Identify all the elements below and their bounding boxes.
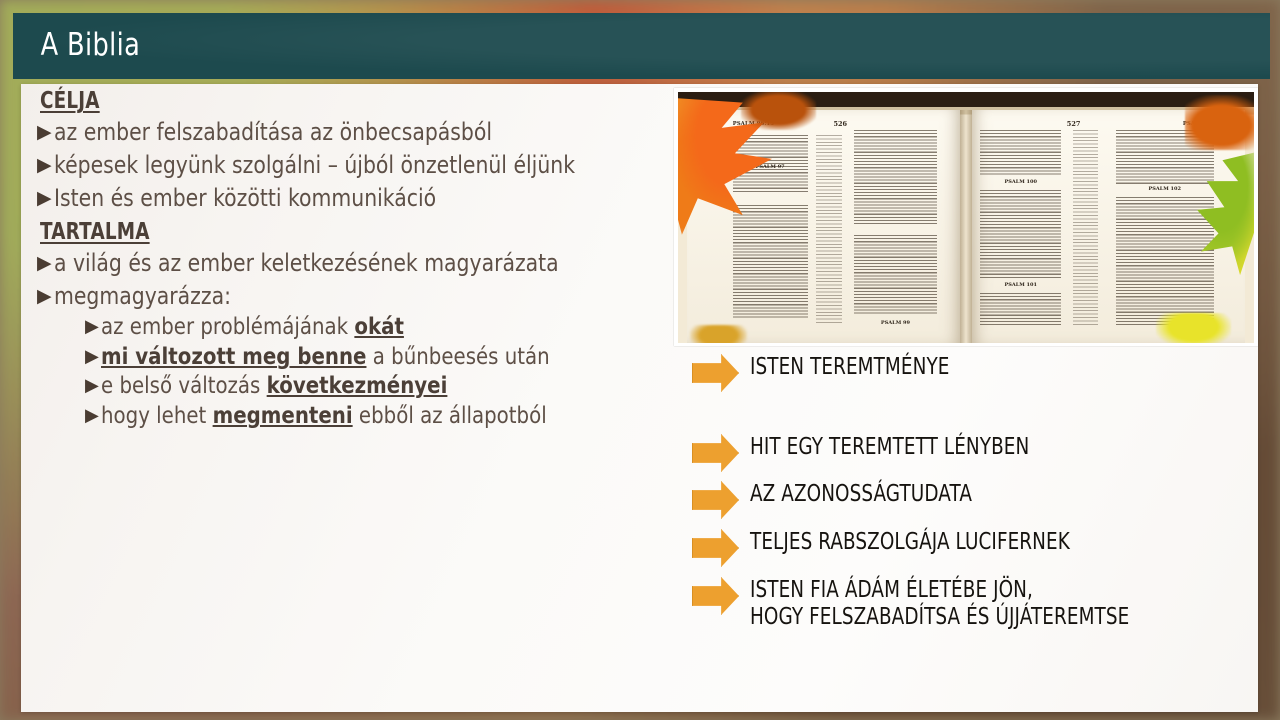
triangle-bullet-icon: ▶ bbox=[85, 314, 99, 339]
bible-psalm-heading: PSALM 102 bbox=[1116, 186, 1214, 192]
sub-label-emphasis: okát bbox=[354, 314, 404, 340]
bible-psalm-heading: PSALM 101 bbox=[980, 282, 1061, 288]
arrow-list-item-label: TELJES RABSZOLGÁJA LUCIFERNEK bbox=[750, 527, 1070, 556]
sub-label-suffix: ebből az állapotból bbox=[352, 403, 546, 429]
right-arrow-icon bbox=[692, 577, 739, 615]
sub-label-emphasis: következményei bbox=[267, 373, 448, 399]
bible-photo: PSALM 96:13 526 527 PSALM 102:13 PSALM 9… bbox=[674, 88, 1258, 346]
triangle-bullet-icon: ▶ bbox=[85, 373, 99, 398]
bible-psalm-heading: PSALM 100 bbox=[980, 179, 1061, 185]
sub-label-prefix: hogy lehet bbox=[101, 403, 213, 429]
triangle-bullet-icon: ▶ bbox=[37, 152, 52, 178]
triangle-bullet-icon: ▶ bbox=[85, 403, 99, 428]
list-item: ▶ megmagyarázza: bbox=[37, 283, 677, 311]
right-arrow-icon bbox=[692, 434, 739, 472]
bible-psalm-heading: PSALM 99 bbox=[854, 320, 938, 326]
triangle-bullet-icon: ▶ bbox=[37, 185, 52, 211]
list-item-label: képesek legyünk szolgálni – újból önzetl… bbox=[54, 152, 584, 180]
sub-label-prefix: e belső változás bbox=[101, 373, 267, 399]
bible-photo-inner: PSALM 96:13 526 527 PSALM 102:13 PSALM 9… bbox=[678, 92, 1254, 343]
page-title: A Biblia bbox=[13, 13, 1169, 63]
arrow-list-item-label: ISTEN FIA ÁDÁM ÉLETÉBE JÖN, HOGY FELSZAB… bbox=[750, 575, 1129, 631]
bible-spine bbox=[960, 110, 972, 343]
sub-list-item: ▶ mi változott meg benne a bűnbeesés utá… bbox=[85, 344, 677, 372]
arrow-list-item: TELJES RABSZOLGÁJA LUCIFERNEK bbox=[692, 527, 1150, 567]
triangle-bullet-icon: ▶ bbox=[37, 283, 52, 309]
section-heading-tartalma: TARTALMA bbox=[40, 219, 550, 245]
arrow-list-item-label: HIT EGY TEREMTETT LÉNYBEN bbox=[750, 432, 1029, 461]
list-item: ▶ Isten és ember közötti kommunikáció bbox=[37, 185, 677, 213]
triangle-bullet-icon: ▶ bbox=[37, 250, 52, 276]
sub-list-item: ▶ hogy lehet megmenteni ebből az állapot… bbox=[85, 403, 677, 431]
section-heading-celja: CÉLJA bbox=[40, 88, 550, 114]
arrow-list-item: ISTEN FIA ÁDÁM ÉLETÉBE JÖN, HOGY FELSZAB… bbox=[692, 575, 1224, 631]
list-item-label: az ember felszabadítása az önbecsapásból bbox=[54, 119, 584, 147]
left-text-column: CÉLJA ▶ az ember felszabadítása az önbec… bbox=[37, 88, 677, 433]
sub-label-emphasis: megmenteni bbox=[212, 403, 352, 429]
list-item-label: Isten és ember közötti kommunikáció bbox=[54, 185, 584, 213]
right-arrow-icon bbox=[692, 354, 739, 392]
sub-label-suffix: a bűnbeesés után bbox=[366, 344, 549, 370]
autumn-leaf-icon bbox=[1185, 95, 1254, 150]
sub-list-item: ▶ e belső változás következményei bbox=[85, 373, 677, 401]
arrow-list-item-label: ISTEN TEREMTMÉNYE bbox=[750, 352, 949, 381]
sub-list-item-label: mi változott meg benne a bűnbeesés után bbox=[101, 344, 596, 372]
list-item: ▶ az ember felszabadítása az önbecsapásb… bbox=[37, 119, 677, 147]
right-arrow-icon bbox=[692, 481, 739, 519]
list-item-label: a világ és az ember keletkezésének magya… bbox=[54, 250, 584, 278]
list-item: ▶ képesek legyünk szolgálni – újból önze… bbox=[37, 152, 677, 180]
triangle-bullet-icon: ▶ bbox=[37, 119, 52, 145]
triangle-bullet-icon: ▶ bbox=[85, 344, 99, 369]
sub-list-item-label: e belső változás következményei bbox=[101, 373, 596, 401]
sub-label-prefix: az ember problémájának bbox=[101, 314, 354, 340]
bible-page-left-number: 526 bbox=[834, 120, 848, 128]
autumn-leaf-icon bbox=[690, 325, 748, 343]
slide-content-panel: CÉLJA ▶ az ember felszabadítása az önbec… bbox=[21, 84, 1258, 712]
yellow-leaf-icon bbox=[1156, 313, 1231, 343]
arrow-list-item-label: AZ AZONOSSÁGTUDATA bbox=[750, 479, 972, 508]
sub-list-item-label: az ember problémájának okát bbox=[101, 314, 596, 342]
arrow-list-item: ISTEN TEREMTMÉNYE bbox=[692, 352, 999, 392]
list-item-label: megmagyarázza: bbox=[54, 283, 584, 311]
arrow-list-item: AZ AZONOSSÁGTUDATA bbox=[692, 479, 1028, 519]
bible-page-right-number: 527 bbox=[1067, 120, 1081, 128]
slide-title-bar: A Biblia bbox=[13, 13, 1270, 79]
autumn-leaf-icon bbox=[741, 92, 816, 130]
sub-list-item: ▶ az ember problémájának okát bbox=[85, 314, 677, 342]
list-item: ▶ a világ és az ember keletkezésének mag… bbox=[37, 250, 677, 278]
right-arrow-icon bbox=[692, 529, 739, 567]
sub-label-emphasis: mi változott meg benne bbox=[101, 344, 366, 370]
arrow-list-item: HIT EGY TEREMTETT LÉNYBEN bbox=[692, 432, 1099, 472]
sub-list-item-label: hogy lehet megmenteni ebből az állapotbó… bbox=[101, 403, 596, 431]
